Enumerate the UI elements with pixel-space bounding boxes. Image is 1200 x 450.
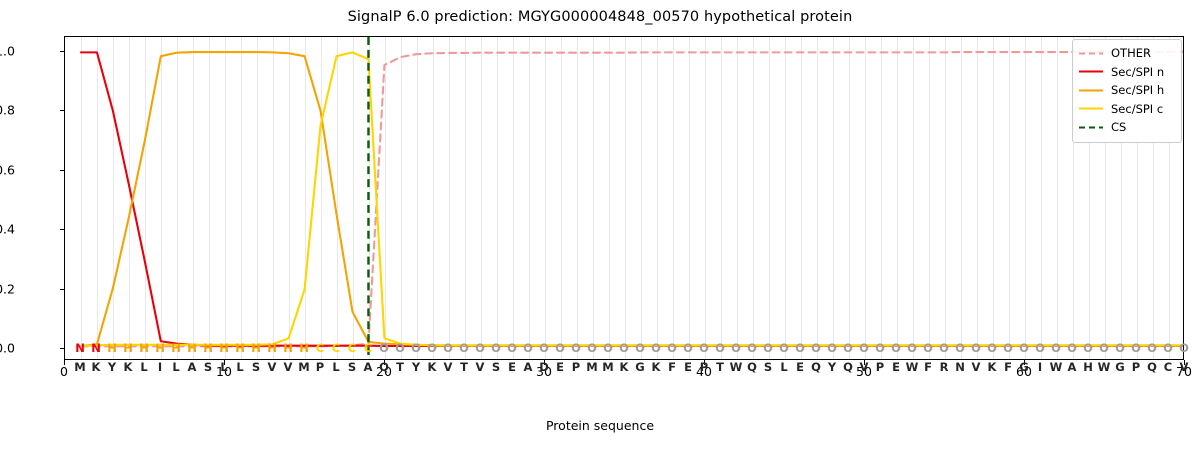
region-annotation-62: O xyxy=(1051,341,1061,355)
residue-44: S xyxy=(764,360,772,374)
region-annotation-41: O xyxy=(715,341,725,355)
region-annotation-29: O xyxy=(523,341,533,355)
region-annotation-70: O xyxy=(1179,341,1189,355)
region-annotation-7: H xyxy=(171,341,181,355)
region-annotation-17: C xyxy=(332,341,340,355)
residue-15: M xyxy=(298,360,309,374)
legend-label: Sec/SPI h xyxy=(1111,83,1164,97)
region-annotation-14: H xyxy=(283,341,293,355)
region-annotation-52: O xyxy=(891,341,901,355)
residue-56: N xyxy=(955,360,965,374)
residue-63: A xyxy=(1068,360,1077,374)
y-tick-mark xyxy=(60,348,65,349)
residue-47: Q xyxy=(811,360,821,374)
residue-7: L xyxy=(172,360,179,374)
residue-31: E xyxy=(556,360,564,374)
residue-51: P xyxy=(876,360,884,374)
residue-38: F xyxy=(668,360,676,374)
region-annotation-10: H xyxy=(219,341,229,355)
region-annotation-68: O xyxy=(1147,341,1157,355)
residue-19: A xyxy=(364,360,373,374)
legend-label: Sec/SPI c xyxy=(1111,102,1163,116)
residue-43: Q xyxy=(747,360,757,374)
residue-5: L xyxy=(140,360,147,374)
region-annotation-64: O xyxy=(1083,341,1093,355)
y-tick-label: 0.4 xyxy=(0,222,15,237)
region-annotation-13: H xyxy=(267,341,277,355)
residue-11: L xyxy=(236,360,243,374)
residue-52: E xyxy=(892,360,900,374)
residue-28: E xyxy=(508,360,516,374)
region-annotation-5: H xyxy=(139,341,149,355)
curve-sec-spi-n xyxy=(81,52,1183,346)
residue-45: L xyxy=(780,360,787,374)
region-annotation-49: O xyxy=(843,341,853,355)
residue-21: T xyxy=(396,360,404,374)
legend-item-sec-spi-h[interactable]: Sec/SPI h xyxy=(1078,81,1176,100)
residue-60: G xyxy=(1019,360,1028,374)
residue-8: A xyxy=(188,360,197,374)
legend-label: CS xyxy=(1111,120,1126,134)
residue-9: S xyxy=(204,360,212,374)
legend-item-cs[interactable]: CS xyxy=(1078,118,1176,137)
region-annotation-48: O xyxy=(827,341,837,355)
residue-27: S xyxy=(492,360,500,374)
y-tick-label: 0.6 xyxy=(0,162,15,177)
residue-53: W xyxy=(906,360,919,374)
region-annotation-31: O xyxy=(555,341,565,355)
region-annotation-61: O xyxy=(1035,341,1045,355)
region-annotation-33: O xyxy=(587,341,597,355)
region-annotation-16: C xyxy=(316,341,324,355)
region-annotation-23: O xyxy=(427,341,437,355)
region-annotation-24: O xyxy=(443,341,453,355)
region-annotation-1: N xyxy=(75,341,85,355)
y-tick-label: 0.0 xyxy=(0,341,15,356)
legend-label: OTHER xyxy=(1111,46,1151,60)
residue-3: Y xyxy=(108,360,116,374)
region-annotation-50: O xyxy=(859,341,869,355)
region-annotation-18: C xyxy=(348,341,356,355)
page-title: SignalP 6.0 prediction: MGYG000004848_00… xyxy=(0,9,1200,25)
y-tick-label: 0.8 xyxy=(0,103,15,118)
residue-48: Y xyxy=(828,360,836,374)
region-annotation-25: O xyxy=(459,341,469,355)
region-annotation-4: H xyxy=(123,341,133,355)
region-annotation-2: N xyxy=(91,341,101,355)
y-tick-mark xyxy=(60,110,65,111)
legend-item-sec-spi-n[interactable]: Sec/SPI n xyxy=(1078,63,1176,82)
residue-26: V xyxy=(476,360,485,374)
region-annotation-27: O xyxy=(491,341,501,355)
legend-swatch-icon xyxy=(1078,85,1104,96)
residue-10: L xyxy=(220,360,227,374)
residue-25: T xyxy=(460,360,468,374)
y-tick-mark xyxy=(60,229,65,230)
legend-swatch-icon xyxy=(1078,66,1104,77)
region-annotation-58: O xyxy=(987,341,997,355)
region-annotation-47: O xyxy=(811,341,821,355)
region-annotation-51: O xyxy=(875,341,885,355)
region-annotation-36: O xyxy=(635,341,645,355)
region-annotation-42: O xyxy=(731,341,741,355)
region-annotation-67: O xyxy=(1131,341,1141,355)
region-annotation-39: O xyxy=(683,341,693,355)
residue-54: F xyxy=(924,360,932,374)
residue-13: V xyxy=(268,360,277,374)
residue-65: W xyxy=(1098,360,1111,374)
region-annotation-69: O xyxy=(1163,341,1173,355)
region-annotation-63: O xyxy=(1067,341,1077,355)
residue-42: W xyxy=(730,360,743,374)
residue-17: L xyxy=(332,360,339,374)
residue-58: K xyxy=(988,360,997,374)
probability-curves xyxy=(65,37,1183,359)
legend-swatch-icon xyxy=(1078,48,1104,59)
residue-30: D xyxy=(539,360,549,374)
region-annotation-57: O xyxy=(971,341,981,355)
residue-14: V xyxy=(284,360,293,374)
region-annotation-34: O xyxy=(603,341,613,355)
region-annotation-8: H xyxy=(187,341,197,355)
y-tick-label: 0.2 xyxy=(0,281,15,296)
region-annotation-19: C xyxy=(364,341,372,355)
curve-sec-spi-h xyxy=(81,52,1183,346)
curve-sec-spi-c xyxy=(81,52,1183,346)
residue-59: F xyxy=(1004,360,1012,374)
residue-6: I xyxy=(158,360,162,374)
region-annotation-38: O xyxy=(667,341,677,355)
residue-12: S xyxy=(252,360,260,374)
residue-23: K xyxy=(428,360,437,374)
residue-67: P xyxy=(1132,360,1140,374)
region-annotation-60: O xyxy=(1019,341,1029,355)
y-tick-mark xyxy=(60,51,65,52)
residue-4: K xyxy=(124,360,133,374)
residue-69: C xyxy=(1164,360,1172,374)
residue-22: Y xyxy=(412,360,420,374)
residue-29: A xyxy=(524,360,533,374)
residue-2: K xyxy=(92,360,101,374)
x-tick-mark xyxy=(64,360,65,365)
residue-62: W xyxy=(1050,360,1063,374)
residue-70: V xyxy=(1180,360,1189,374)
region-annotation-43: O xyxy=(747,341,757,355)
region-annotation-45: O xyxy=(779,341,789,355)
region-annotation-56: O xyxy=(955,341,965,355)
y-tick-mark xyxy=(60,170,65,171)
region-annotation-37: O xyxy=(651,341,661,355)
residue-34: M xyxy=(602,360,613,374)
plot-area xyxy=(64,36,1184,360)
residue-1: M xyxy=(74,360,85,374)
region-annotation-53: O xyxy=(907,341,917,355)
residue-18: S xyxy=(348,360,356,374)
residue-40: P xyxy=(700,360,708,374)
y-tick-label: 1.0 xyxy=(0,43,15,58)
residue-68: Q xyxy=(1147,360,1157,374)
legend-swatch-icon xyxy=(1078,122,1104,133)
region-annotation-22: O xyxy=(411,341,421,355)
region-annotation-46: O xyxy=(795,341,805,355)
curve-other xyxy=(81,52,1183,347)
legend: OTHERSec/SPI nSec/SPI hSec/SPI cCS xyxy=(1072,39,1182,143)
legend-item-sec-spi-c[interactable]: Sec/SPI c xyxy=(1078,100,1176,119)
region-annotation-26: O xyxy=(475,341,485,355)
region-annotation-9: H xyxy=(203,341,213,355)
residue-41: T xyxy=(716,360,724,374)
region-annotation-59: O xyxy=(1003,341,1013,355)
region-annotation-66: O xyxy=(1115,341,1125,355)
residue-39: E xyxy=(684,360,692,374)
residue-35: K xyxy=(620,360,629,374)
residue-33: M xyxy=(586,360,597,374)
legend-item-other[interactable]: OTHER xyxy=(1078,44,1176,63)
region-annotation-65: O xyxy=(1099,341,1109,355)
region-annotation-40: O xyxy=(699,341,709,355)
residue-49: Q xyxy=(843,360,853,374)
region-annotation-44: O xyxy=(763,341,773,355)
region-annotation-30: O xyxy=(539,341,549,355)
region-annotation-28: O xyxy=(507,341,517,355)
residue-20: Q xyxy=(379,360,389,374)
residue-36: G xyxy=(635,360,644,374)
residue-46: E xyxy=(796,360,804,374)
region-annotation-35: O xyxy=(619,341,629,355)
residue-57: V xyxy=(972,360,981,374)
residue-16: P xyxy=(316,360,324,374)
region-annotation-20: O xyxy=(379,341,389,355)
region-annotation-11: H xyxy=(235,341,245,355)
region-annotation-54: O xyxy=(923,341,933,355)
legend-label: Sec/SPI n xyxy=(1111,65,1164,79)
region-annotation-3: H xyxy=(107,341,117,355)
x-tick-label: 0 xyxy=(60,364,68,379)
region-annotation-6: H xyxy=(155,341,165,355)
residue-50: V xyxy=(860,360,869,374)
region-annotation-55: O xyxy=(939,341,949,355)
residue-37: K xyxy=(652,360,661,374)
residue-66: G xyxy=(1115,360,1124,374)
residue-61: I xyxy=(1038,360,1042,374)
residue-55: R xyxy=(940,360,949,374)
residue-64: H xyxy=(1083,360,1093,374)
region-annotation-15: H xyxy=(299,341,309,355)
y-tick-mark xyxy=(60,289,65,290)
legend-swatch-icon xyxy=(1078,103,1104,114)
region-annotation-21: O xyxy=(395,341,405,355)
region-annotation-12: H xyxy=(251,341,261,355)
x-axis-label: Protein sequence xyxy=(0,418,1200,433)
region-annotation-32: O xyxy=(571,341,581,355)
residue-32: P xyxy=(572,360,580,374)
residue-24: V xyxy=(444,360,453,374)
signalp-prediction-figure: SignalP 6.0 prediction: MGYG000004848_00… xyxy=(0,0,1200,450)
